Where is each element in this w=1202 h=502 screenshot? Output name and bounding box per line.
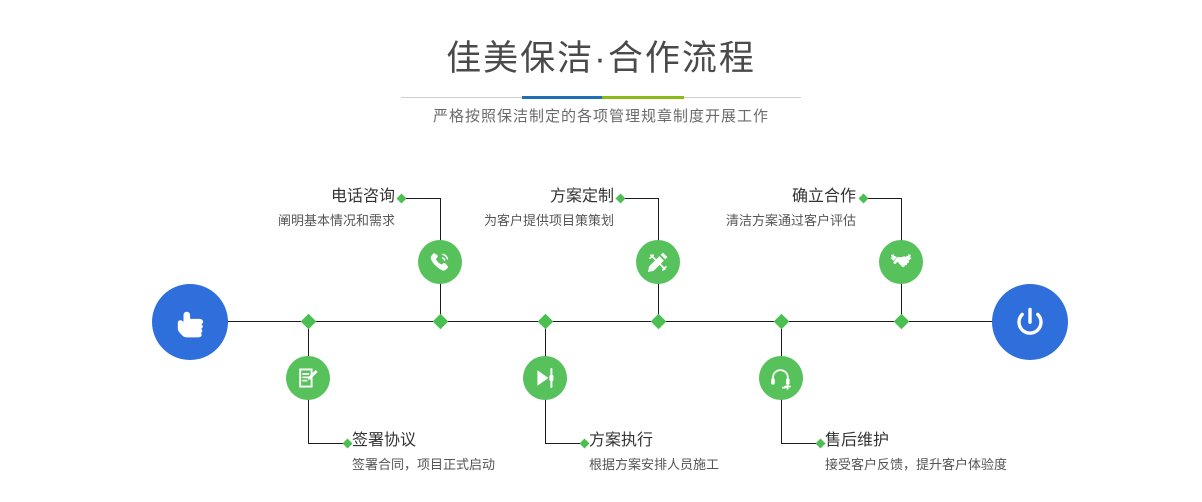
step-desc-1: 阐明基本情况和需求 [150,210,395,232]
divider-segment-blue [522,96,602,99]
axis-marker-3 [651,314,667,330]
step-node-5[interactable] [759,356,803,400]
axis-marker-2 [301,314,317,330]
label-anchor-6 [859,194,869,204]
axis-marker-1 [433,314,449,330]
pencil-design-icon [645,249,671,275]
step-desc-6: 清洁方案通过客户评估 [610,210,856,232]
axis-marker-6 [894,314,910,330]
handshake-icon [888,249,914,275]
title-divider [401,96,801,99]
timeline-axis [222,321,1000,322]
step-label-1: 电话咨询 阐明基本情况和需求 [150,186,395,232]
axis-marker-4 [538,314,554,330]
step-label-6: 确立合作 清洁方案通过客户评估 [610,186,856,232]
step-node-4[interactable] [523,356,567,400]
step-title-6: 确立合作 [610,186,856,208]
connector-horizontal-2 [308,443,347,444]
step-title-1: 电话咨询 [150,186,395,208]
step-desc-3: 为客户提供项目策策划 [370,210,614,232]
headset-support-icon [768,365,794,391]
step-node-3[interactable] [636,240,680,284]
timeline-end-badge [992,284,1068,360]
step-label-4: 方案执行 根据方案安排人员施工 [589,430,839,476]
divider-segment-green [602,96,684,99]
step-title-5: 售后维护 [825,430,1095,452]
step-label-5: 售后维护 接受客户反馈，提升客户体验度 [825,430,1095,476]
page-subtitle: 严格按照保洁制定的各项管理规章制度开展工作 [0,105,1202,129]
step-desc-2: 签署合同，项目正式启动 [352,454,602,476]
step-label-2: 签署协议 签署合同，项目正式启动 [352,430,602,476]
play-execute-icon [532,365,558,391]
step-label-3: 方案定制 为客户提供项目策策划 [370,186,614,232]
step-title-2: 签署协议 [352,430,602,452]
step-desc-5: 接受客户反馈，提升客户体验度 [825,454,1095,476]
page-title: 佳美保洁·合作流程 [0,36,1202,82]
pointing-hand-icon [169,301,211,343]
axis-marker-5 [774,314,790,330]
power-icon [1008,300,1052,344]
step-node-6[interactable] [879,240,923,284]
process-flow-infographic: 佳美保洁·合作流程 严格按照保洁制定的各项管理规章制度开展工作 [0,0,1202,502]
step-desc-4: 根据方案安排人员施工 [589,454,839,476]
timeline-start-badge [152,284,228,360]
label-anchor-2 [343,439,353,449]
step-title-3: 方案定制 [370,186,614,208]
step-node-2[interactable] [286,356,330,400]
phone-call-icon [427,249,453,275]
step-title-4: 方案执行 [589,430,839,452]
step-node-1[interactable] [418,240,462,284]
document-sign-icon [295,365,321,391]
